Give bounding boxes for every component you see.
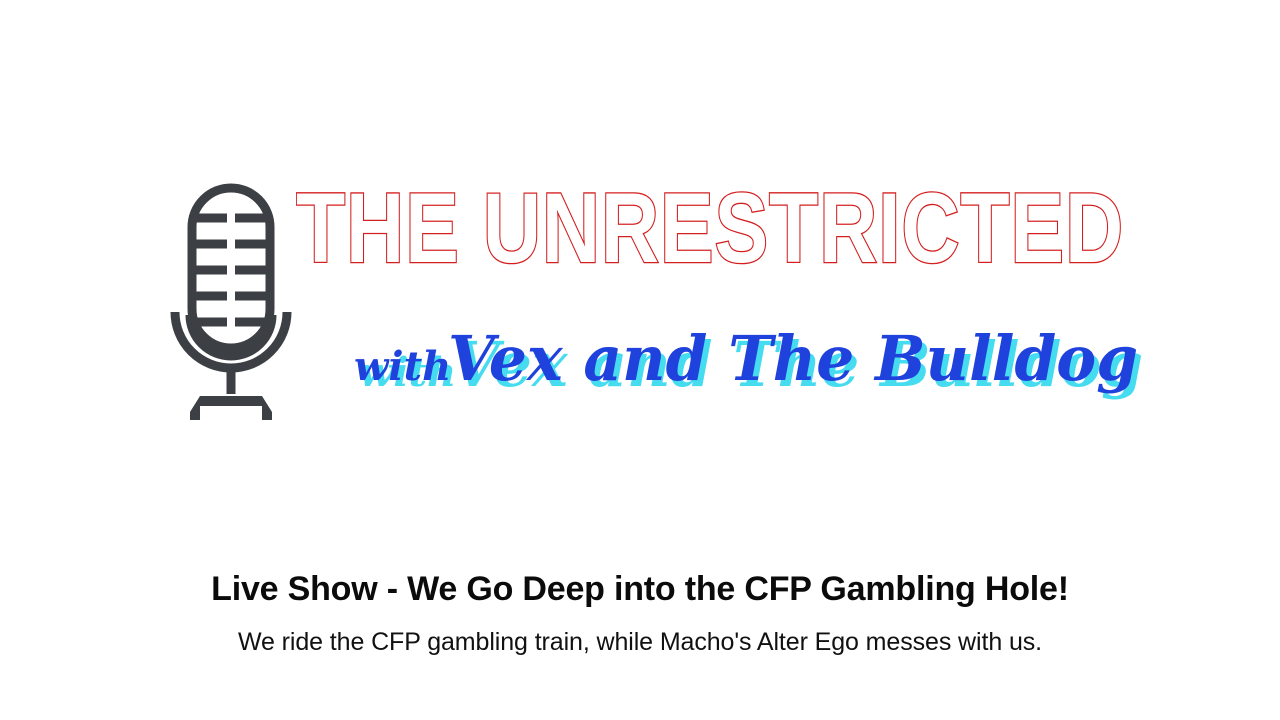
wordmark-primary-text: THE UNRESTRICTED [296,172,1124,283]
wordmark-secondary-prefix: with [354,343,451,390]
episode-subtitle: We ride the CFP gambling train, while Ma… [0,628,1280,657]
wordmark-primary: THE UNRESTRICTED [296,170,1136,290]
wordmark-secondary-names: Vex and The Bulldog [448,322,1138,395]
wordmark-secondary: with Vex and The Bulldog with Vex and Th… [296,318,1146,408]
show-logo: THE UNRESTRICTED with Vex and The Bulldo… [0,170,1280,430]
episode-title: Live Show - We Go Deep into the CFP Gamb… [0,570,1280,609]
podcast-cover-canvas: THE UNRESTRICTED with Vex and The Bulldo… [0,0,1280,720]
microphone-icon [170,182,315,422]
